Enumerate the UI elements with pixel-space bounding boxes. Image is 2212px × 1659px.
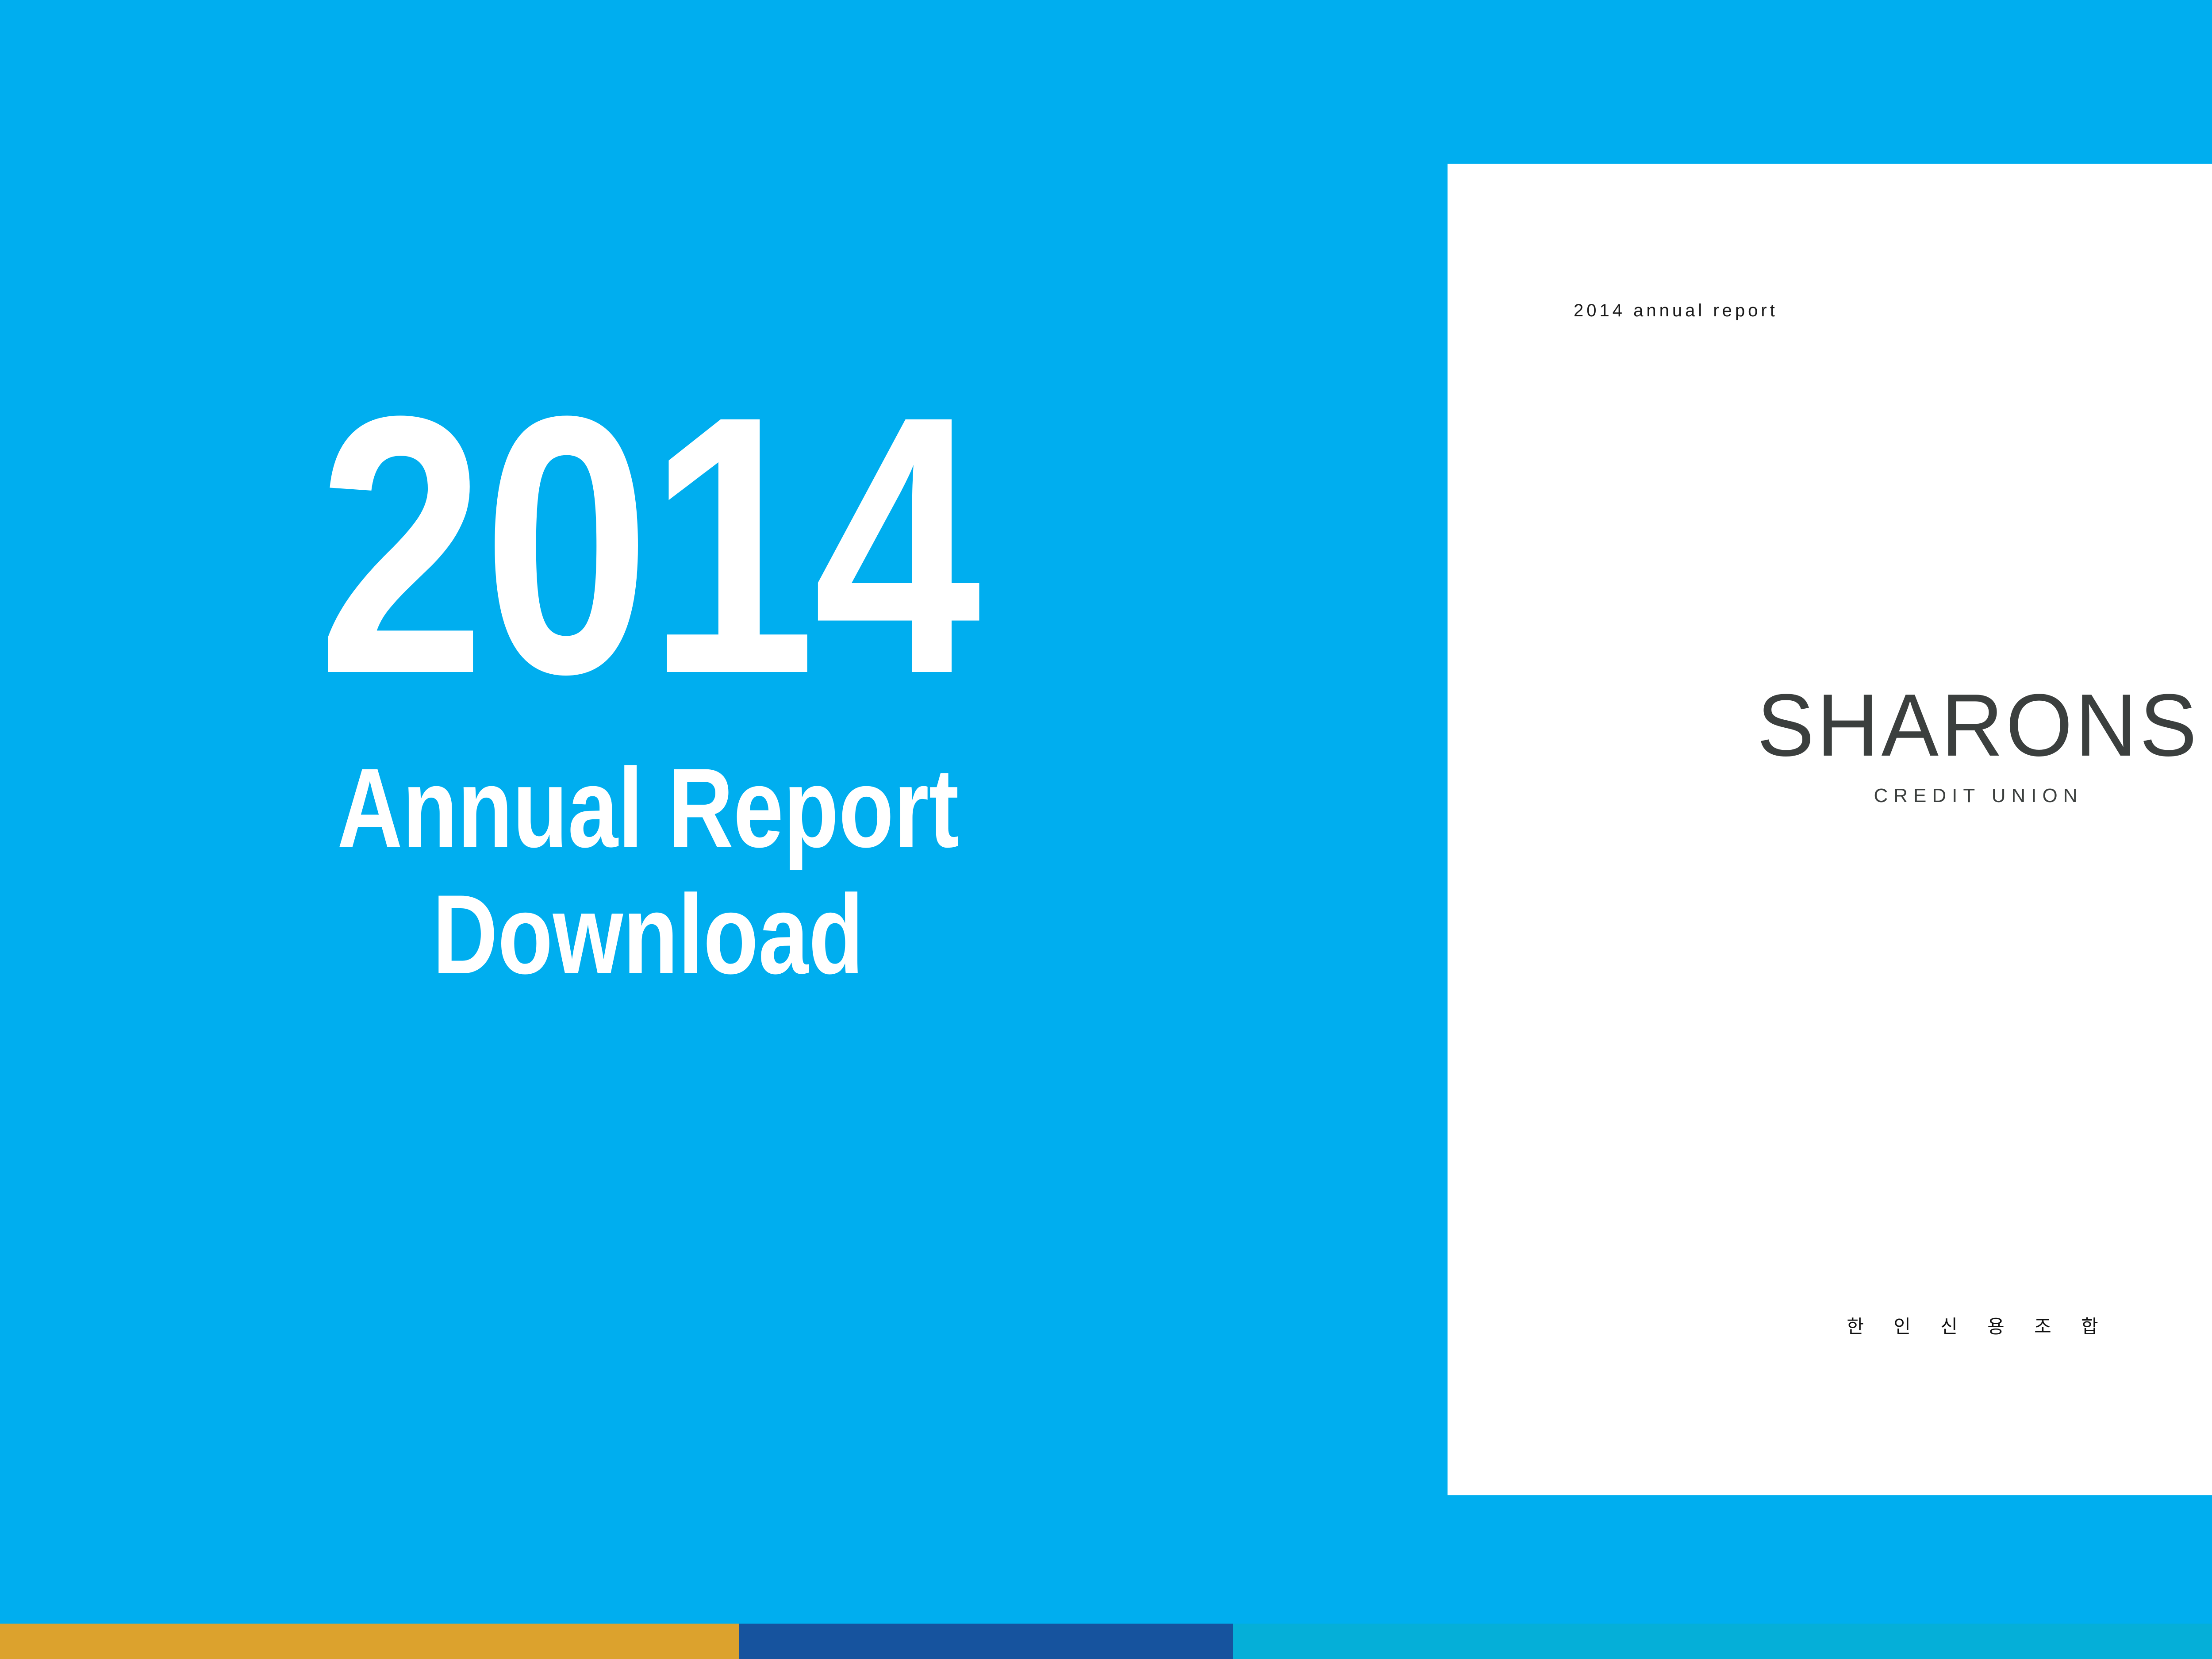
- bottom-color-bar: [0, 1624, 2212, 1659]
- bottom-bar-segment-gold: [0, 1624, 739, 1659]
- bottom-bar-segment-navy: [739, 1624, 1233, 1659]
- cover-logo-block: SHARONS CREDIT UNION: [1448, 681, 2212, 807]
- subtitle-heading: Annual Report Download: [130, 745, 1167, 998]
- annual-report-cover-page[interactable]: 2014 annual report SHARONS CREDIT UNION …: [1448, 164, 2212, 1495]
- subtitle-line-2: Download: [130, 872, 1167, 998]
- headline-block: 2014 Annual Report Download: [0, 398, 1296, 998]
- credit-union-subtext: CREDIT UNION: [1448, 785, 2212, 807]
- sharons-wordmark: SHARONS: [1757, 681, 2200, 770]
- cover-eyebrow-text: 2014 annual report: [1574, 301, 1778, 321]
- year-heading: 2014: [117, 398, 1180, 692]
- bottom-bar-segment-teal: [1233, 1624, 2212, 1659]
- korean-footer-text: 한 인 신 용 조 합: [1448, 1312, 2212, 1339]
- subtitle-line-1: Annual Report: [130, 745, 1167, 872]
- slide-canvas: 2014 Annual Report Download 2014 annual …: [0, 0, 2212, 1659]
